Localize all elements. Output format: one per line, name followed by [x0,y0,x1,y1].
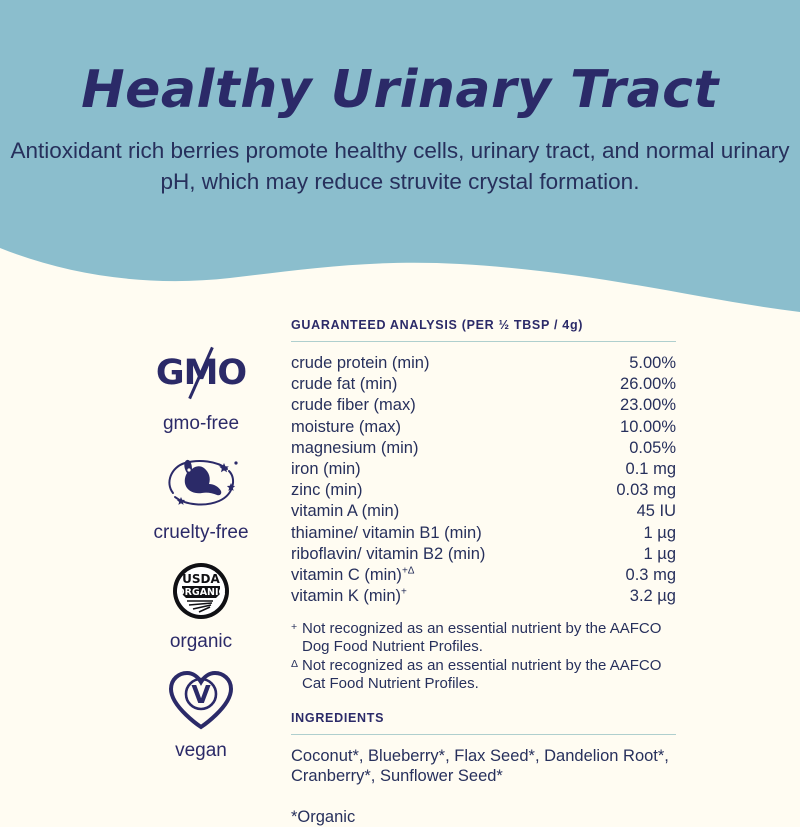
analysis-row: vitamin K (min)+3.2 µg [291,586,676,607]
guaranteed-analysis-table: crude protein (min)5.00%crude fat (min)2… [291,353,676,607]
analysis-row: moisture (max)10.00% [291,417,676,438]
ingredients-heading: INGREDIENTS [291,711,676,725]
analysis-nutrient-value: 10.00% [586,417,676,438]
badge-usda-organic: USDA ORGANIC organic [118,558,284,653]
analysis-row: crude fiber (max)23.00% [291,395,676,416]
analysis-nutrient-value: 45 IU [586,501,676,522]
usda-organic-seal-svg: USDA ORGANIC [172,562,230,620]
header-banner: Healthy Urinary Tract Antioxidant rich b… [0,0,800,320]
vegan-v-letter: V [191,680,211,709]
footnotes-list: +Not recognized as an essential nutrient… [291,620,676,693]
analysis-nutrient-name: crude fat (min) [291,374,586,395]
analysis-nutrient-name: moisture (max) [291,417,586,438]
analysis-row: vitamin A (min)45 IU [291,501,676,522]
footnote-text: Not recognized as an essential nutrient … [302,657,676,693]
vegan-heart-svg: V [166,669,236,731]
divider-ingredients [291,734,676,735]
analysis-footnote-marker: + [401,587,407,598]
analysis-row: magnesium (min)0.05% [291,438,676,459]
header-text-block: Healthy Urinary Tract Antioxidant rich b… [0,0,800,197]
analysis-nutrient-value: 26.00% [586,374,676,395]
footnote-marker: + [291,620,302,656]
analysis-row: riboflavin/ vitamin B2 (min)1 µg [291,544,676,565]
leaping-bunny-svg [159,451,243,513]
certification-badges-list: GMO gmo-free [118,340,284,776]
analysis-nutrient-name: vitamin C (min)+Δ [291,565,586,586]
badge-label-cruelty-free: cruelty-free [118,522,284,544]
badge-gmo-free: GMO gmo-free [118,340,284,435]
analysis-nutrient-name: crude fiber (max) [291,395,586,416]
analysis-nutrient-name: thiamine/ vitamin B1 (min) [291,523,586,544]
page-title: Healthy Urinary Tract [0,0,800,119]
analysis-nutrient-name: riboflavin/ vitamin B2 (min) [291,544,586,565]
badge-label-gmo-free: gmo-free [118,413,284,435]
leaping-bunny-cruelty-free-icon [118,449,284,515]
analysis-row: thiamine/ vitamin B1 (min)1 µg [291,523,676,544]
analysis-nutrient-value: 0.3 mg [586,565,676,586]
svg-text:USDA: USDA [182,572,220,586]
analysis-nutrient-value: 3.2 µg [586,586,676,607]
footnote: +Not recognized as an essential nutrient… [291,620,676,656]
ingredients-list: Coconut*, Blueberry*, Flax Seed*, Dandel… [291,746,676,787]
analysis-nutrient-value: 1 µg [586,544,676,565]
badge-label-vegan: vegan [118,740,284,762]
analysis-nutrient-name: vitamin A (min) [291,501,586,522]
analysis-nutrient-name: iron (min) [291,459,586,480]
analysis-rows: crude protein (min)5.00%crude fat (min)2… [291,353,676,607]
analysis-nutrient-value: 0.1 mg [586,459,676,480]
analysis-nutrient-value: 1 µg [586,523,676,544]
organic-note: *Organic [291,808,676,827]
analysis-row: iron (min)0.1 mg [291,459,676,480]
analysis-nutrient-name: crude protein (min) [291,353,586,374]
footnote: ΔNot recognized as an essential nutrient… [291,657,676,693]
analysis-nutrient-value: 23.00% [586,395,676,416]
nutrition-info-panel: GUARANTEED ANALYSIS (PER ½ TBSP / 4g) cr… [291,318,676,827]
footnote-marker: Δ [291,657,302,693]
analysis-row: crude fat (min)26.00% [291,374,676,395]
analysis-nutrient-name: zinc (min) [291,480,586,501]
analysis-nutrient-value: 0.05% [586,438,676,459]
analysis-row: crude protein (min)5.00% [291,353,676,374]
ingredients-section: INGREDIENTS Coconut*, Blueberry*, Flax S… [291,711,676,827]
badge-label-organic: organic [118,631,284,653]
svg-text:ORGANIC: ORGANIC [177,587,226,598]
usda-organic-seal-icon: USDA ORGANIC [118,558,284,624]
page-subtitle: Antioxidant rich berries promote healthy… [0,119,800,197]
analysis-footnote-marker: +Δ [402,565,415,576]
analysis-row: vitamin C (min)+Δ0.3 mg [291,565,676,586]
vegan-heart-icon: V [118,667,284,733]
analysis-nutrient-name: vitamin K (min)+ [291,586,586,607]
guaranteed-analysis-heading: GUARANTEED ANALYSIS (PER ½ TBSP / 4g) [291,318,676,332]
divider-analysis [291,341,676,342]
analysis-nutrient-name: magnesium (min) [291,438,586,459]
analysis-nutrient-value: 0.03 mg [586,480,676,501]
badge-vegan: V vegan [118,667,284,762]
analysis-nutrient-value: 5.00% [586,353,676,374]
footnote-text: Not recognized as an essential nutrient … [302,620,676,656]
badge-cruelty-free: cruelty-free [118,449,284,544]
analysis-row: zinc (min)0.03 mg [291,480,676,501]
gmo-free-icon: GMO [118,340,284,406]
